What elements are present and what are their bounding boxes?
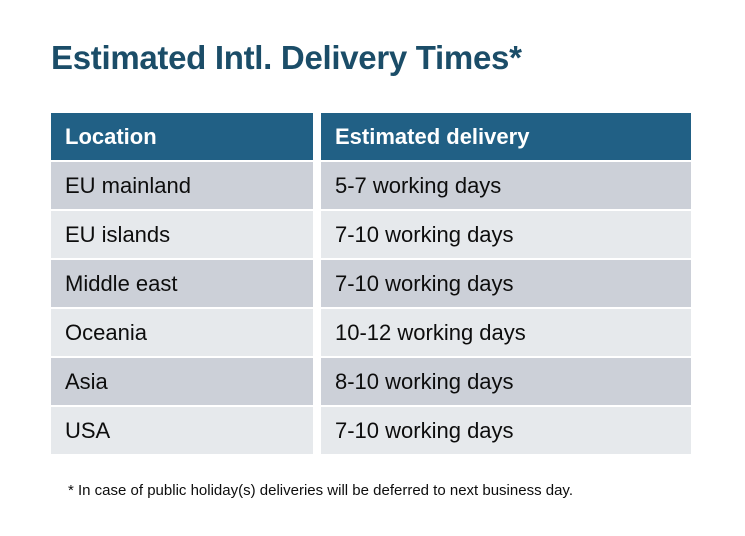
cell-location: EU islands [51, 211, 313, 258]
delivery-times-page: Estimated Intl. Delivery Times* Location… [0, 0, 745, 536]
cell-delivery: 7-10 working days [321, 211, 691, 258]
cell-location: EU mainland [51, 162, 313, 209]
cell-location: USA [51, 407, 313, 454]
table-header-row: Location Estimated delivery [51, 113, 691, 160]
table-row: Middle east 7-10 working days [51, 260, 691, 307]
column-header-estimated-delivery: Estimated delivery [321, 113, 691, 160]
cell-delivery: 8-10 working days [321, 358, 691, 405]
table-row: USA 7-10 working days [51, 407, 691, 454]
cell-location: Middle east [51, 260, 313, 307]
cell-delivery: 10-12 working days [321, 309, 691, 356]
table-row: Oceania 10-12 working days [51, 309, 691, 356]
cell-location: Asia [51, 358, 313, 405]
cell-delivery: 7-10 working days [321, 407, 691, 454]
delivery-times-table: Location Estimated delivery EU mainland … [51, 113, 691, 454]
table-row: Asia 8-10 working days [51, 358, 691, 405]
table-row: EU mainland 5-7 working days [51, 162, 691, 209]
table-row: EU islands 7-10 working days [51, 211, 691, 258]
column-header-location: Location [51, 113, 313, 160]
cell-delivery: 5-7 working days [321, 162, 691, 209]
cell-delivery: 7-10 working days [321, 260, 691, 307]
footnote: * In case of public holiday(s) deliverie… [68, 481, 573, 501]
cell-location: Oceania [51, 309, 313, 356]
page-title: Estimated Intl. Delivery Times* [51, 36, 522, 80]
